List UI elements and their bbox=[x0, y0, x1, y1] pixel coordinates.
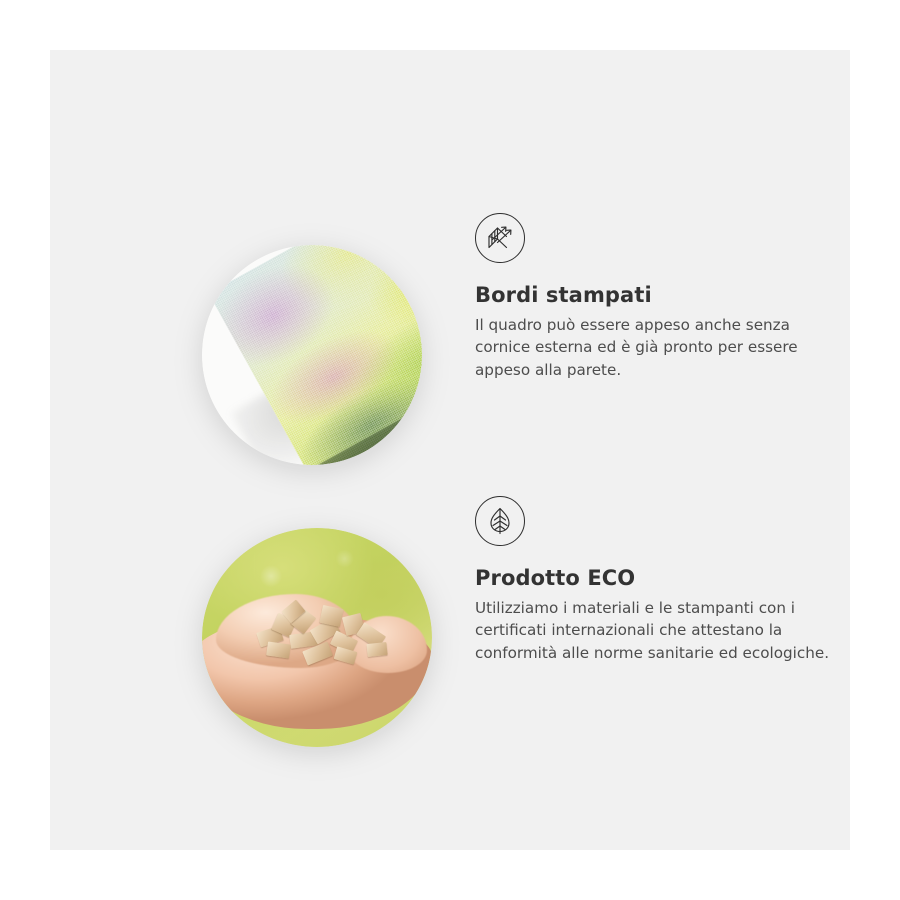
feature-description: Il quadro può essere appeso anche senza … bbox=[475, 314, 843, 381]
photo-clip bbox=[202, 528, 432, 747]
printed-edges-icon bbox=[475, 213, 525, 263]
feature-text-column-1: Bordi stampati Il quadro può essere appe… bbox=[475, 213, 855, 381]
feature-text-column-2: Prodotto ECO Utilizziamo i materiali e l… bbox=[475, 496, 855, 664]
feature-description: Utilizziamo i materiali e le stampanti c… bbox=[475, 597, 843, 664]
leaf-icon bbox=[475, 496, 525, 546]
hands-holding-wood-chips-photo bbox=[202, 528, 432, 747]
content-panel: Bordi stampati Il quadro può essere appe… bbox=[50, 50, 850, 850]
feature-title: Prodotto ECO bbox=[475, 566, 855, 591]
photo-clip bbox=[202, 245, 422, 465]
canvas-print-corner-photo bbox=[202, 245, 422, 465]
product-feature-page: Bordi stampati Il quadro può essere appe… bbox=[0, 0, 900, 900]
feature-title: Bordi stampati bbox=[475, 283, 855, 308]
wood-chip-pile bbox=[253, 602, 396, 672]
